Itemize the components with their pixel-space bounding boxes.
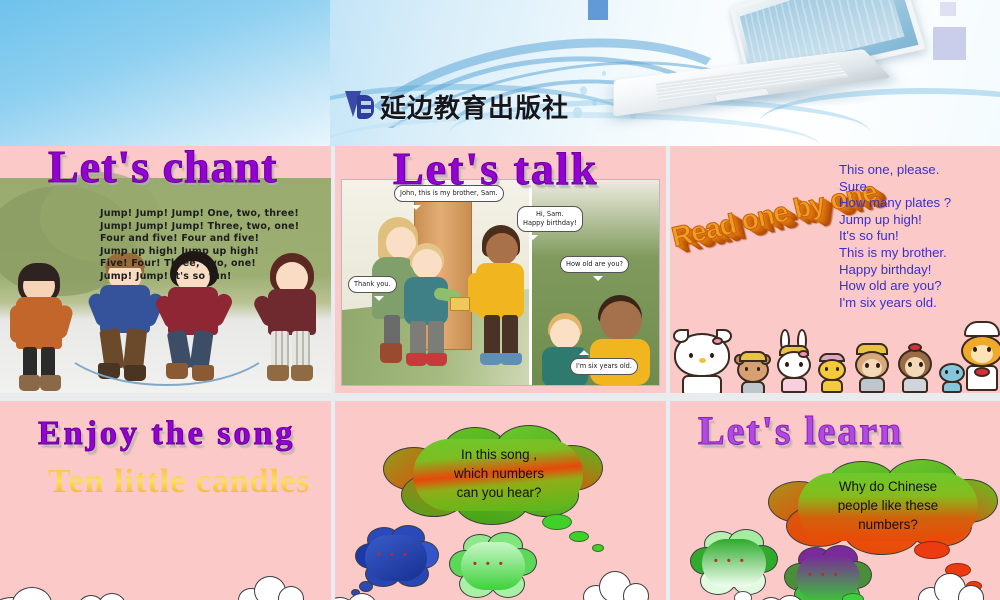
slide-subtitle-ten-little-candles: Ten little candles [48,463,310,501]
slide-enjoy-the-song[interactable]: Enjoy the song Ten little candles Ten li… [0,401,331,600]
thought-bubble-learn-green-dots: • • • [714,555,747,567]
chant-line: Jump! Jump! Jump! Three, two, one! [100,221,330,234]
publisher-logo: 延边教育出版社 [345,88,569,125]
thought-trail-red-1 [914,541,950,559]
slide-title-lets-learn: Let's learn [698,407,903,454]
read-lines-block: This one, please. Sure. How many plates … [839,162,1000,311]
chef-bear-character [960,323,1000,393]
monkey-cap-character [853,341,891,393]
thought-bubble-blue: • • • [359,529,435,591]
slide-read-one-by-one[interactable]: Read one by one This one, please. Sure. … [670,146,1000,393]
thought-bubble-learn-text: Why do Chinese people like these numbers… [800,477,976,534]
chant-text-block: Jump! Jump! Jump! One, two, three! Jump!… [100,208,330,284]
bubble-line: people like these [800,496,976,515]
chant-line: Four and five! Four and five! [100,233,330,246]
speech-bubble-2: Hi, Sam. Happy birthday! [517,206,583,232]
character-sam-yellow [472,225,530,375]
speech-bubble-1: John, this is my brother, Sam. [394,185,504,202]
gift-card [450,297,470,311]
thought-bubble-lightgreen-dots: • • • [473,558,506,570]
publisher-name: 延边教育出版社 [380,88,569,125]
thought-bubble-main-text: In this song , which numbers can you hea… [415,445,583,502]
read-line: How many plates ? [839,195,1000,212]
thought-bubble-learn-purple-dots: • • • [808,569,841,581]
bubble-line: In this song , [415,445,583,464]
bear-cap-character [736,347,770,393]
chant-line: Jump up high! Jump up high! [100,246,330,259]
publisher-logo-mark [345,91,375,123]
slide-lets-talk[interactable]: John, this is my brother, Sam. Hi, Sam. … [335,146,666,393]
slide-song-question[interactable]: In this song , which numbers can you hea… [335,401,666,600]
rabbit-character [774,331,814,393]
read-line: This is my brother. [839,245,1000,262]
small-green-blob [842,593,864,600]
thought-trail-dot-2 [569,531,589,542]
laptop-illustration [600,0,930,112]
speech-bubble-4: How old are you? [560,256,629,273]
slide-title-lets-chant: Let's chant [48,146,278,193]
thought-bubble-main: In this song , which numbers can you hea… [395,429,595,515]
thought-trail-dot-1 [542,514,572,530]
cartoon-character-strip [670,321,1000,393]
decorative-lavender-square-small [940,2,956,16]
comic-strip: John, this is my brother, Sam. Hi, Sam. … [341,179,660,386]
read-line: This one, please. [839,162,1000,179]
decorative-lavender-square [933,27,966,60]
speech-bubble-3: Thank you. [348,276,397,293]
thought-bubble-learn-main: Why do Chinese people like these numbers… [778,465,990,543]
thought-bubble-learn-green: • • • [694,533,774,595]
yellow-chick-character [817,353,847,393]
bubble-line: can you hear? [415,483,583,502]
read-line: Happy birthday! [839,262,1000,279]
thought-trail-dot-3 [592,544,604,552]
header-banner: 延边教育出版社 [0,0,1000,146]
slide-title-enjoy-the-song: Enjoy the song [38,415,295,453]
bubble-line: Why do Chinese [800,477,976,496]
slide-lets-learn[interactable]: Let's learn Why do Chinese people like t… [670,401,1000,600]
slide-grid: Let's chant Jump! Jump! Jump! One, two, … [0,146,1000,600]
chant-line: Jump! Jump! It's so fun! [100,271,330,284]
bubble-line: numbers? [800,515,976,534]
speech-bubble-5: I'm six years old. [570,358,638,375]
hello-kitty-character [672,325,734,393]
small-white-blob [734,591,752,600]
read-line: Jump up high! [839,212,1000,229]
jump-rope [52,276,282,386]
monkey-bow-character [896,341,934,393]
thought-bubble-blue-dots: • • • [377,549,410,561]
read-line: It's so fun! [839,228,1000,245]
thought-bubble-lightgreen: • • • [453,536,533,598]
bubble-line: which numbers [415,464,583,483]
banner-sky-gradient [0,0,330,146]
read-line: Sure. [839,179,1000,196]
slide-lets-chant[interactable]: Let's chant Jump! Jump! Jump! One, two, … [0,146,331,393]
character-boy-john [400,243,456,373]
read-line: How old are you? [839,278,1000,295]
chant-line: Five! Four! Three, two, one! [100,258,330,271]
chant-line: Jump! Jump! Jump! One, two, three! [100,208,330,221]
read-line: I'm six years old. [839,295,1000,312]
